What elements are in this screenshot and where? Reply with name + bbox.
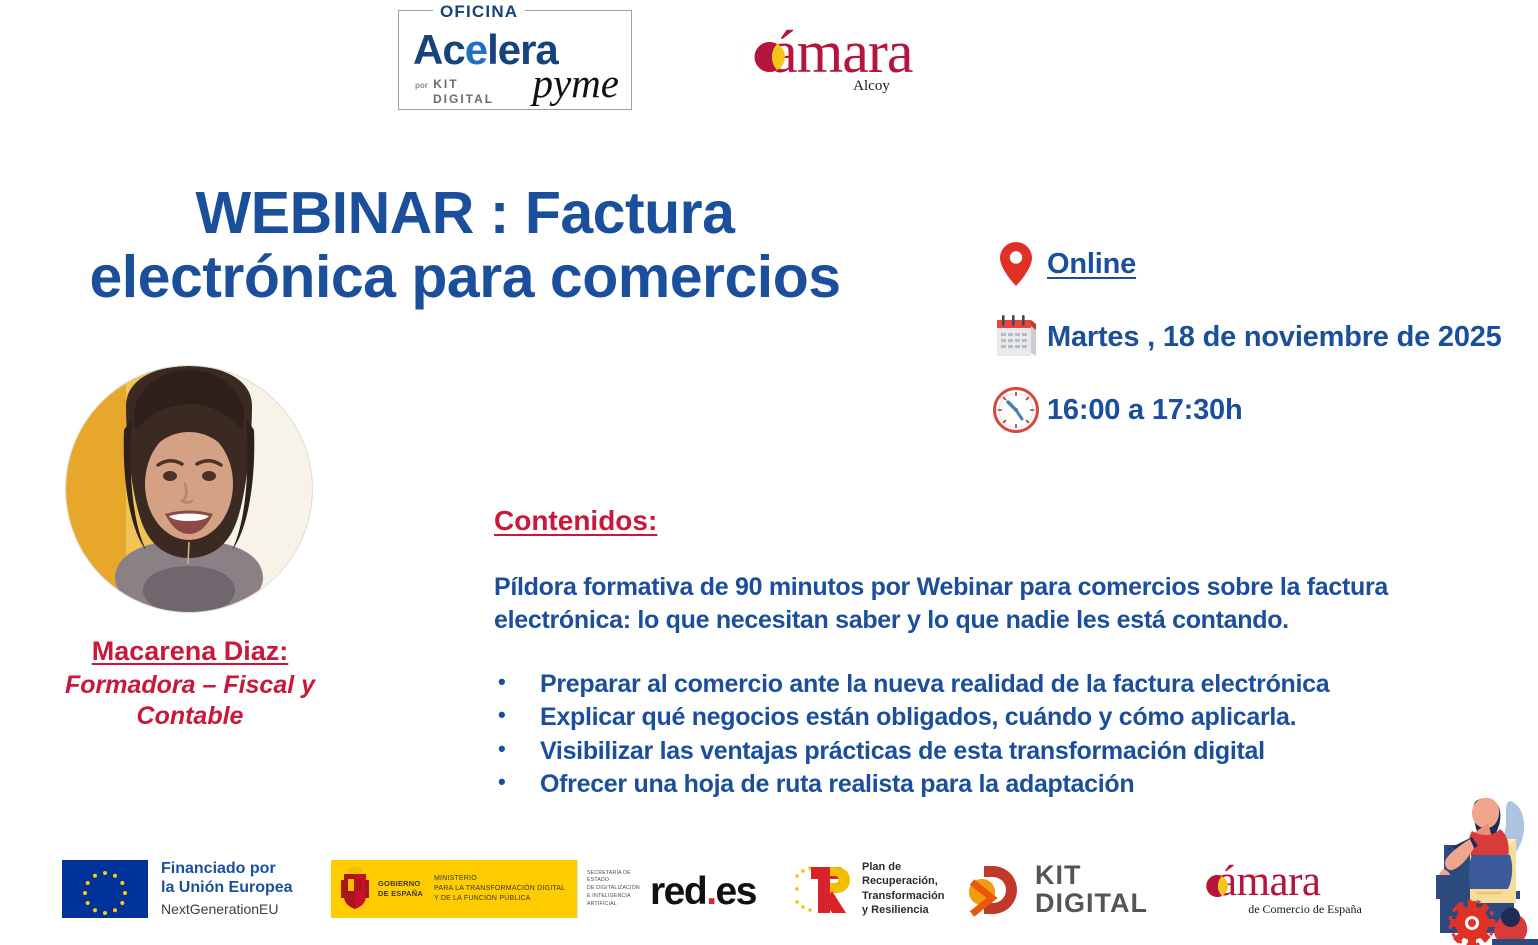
detail-location-text[interactable]: Online [1047, 248, 1136, 281]
prtr-logo-icon [791, 863, 853, 915]
eu-nextgen-label: NextGenerationEU [161, 901, 293, 917]
acelera-pyme-logo: OFICINA Acelera pyme por KIT DIGITAL [398, 10, 632, 110]
speaker-name: Macarena Diaz: [0, 636, 380, 667]
redes-dot: . [706, 870, 715, 913]
speaker-portrait [66, 366, 312, 612]
prtr-line-1: Plan de [862, 860, 945, 874]
prtr-text: Plan de Recuperación, Transformación y R… [862, 860, 945, 917]
detail-time-text: 16:00 a 17:30h [1047, 394, 1243, 427]
kit-digital-logo: KIT DIGITAL [963, 862, 1148, 918]
redes-es-text: es [716, 870, 756, 913]
content-section: Contenidos: Píldora formativa de 90 minu… [494, 505, 1494, 802]
camara-alcoy-logo: ámara Alcoy [737, 22, 972, 108]
location-pin-icon [985, 241, 1047, 287]
content-heading: Contenidos: [494, 505, 1494, 537]
eu-funding-text: Financiado por la Unión Europea NextGene… [161, 860, 293, 917]
list-item: Visibilizar las ventajas prácticas de es… [494, 735, 1494, 769]
eu-funding-logo: Financiado por la Unión Europea NextGene… [62, 860, 293, 918]
list-item: Ofrecer una hoja de ruta realista para l… [494, 768, 1494, 802]
eu-flag-icon [62, 860, 148, 918]
clock-icon [985, 386, 1047, 434]
acelera-prefix: Ac [413, 26, 465, 73]
camara-c-icon [737, 26, 799, 88]
redes-logo: red.es [650, 870, 756, 914]
detail-row-date: Martes , 18 de noviembre de 2025 [985, 311, 1538, 363]
secretaria-line-3: E INTELIGENCIA ARTIFICIAL [587, 893, 649, 909]
kit-line-1: KIT [1035, 862, 1148, 890]
prtr-line-2: Recuperación, [862, 874, 945, 888]
speaker-role: Formadora – Fiscal y Contable [0, 670, 380, 731]
secretaria-white-block: SECRETARÍA DE ESTADO DE DIGITALIZACIÓN E… [577, 860, 649, 918]
spain-coat-of-arms-icon [338, 866, 372, 912]
detail-date-text: Martes , 18 de noviembre de 2025 [1047, 321, 1502, 354]
gobierno-label: GOBIERNO DE ESPAÑA [378, 879, 423, 899]
detail-row-time: 16:00 a 17:30h [985, 384, 1538, 436]
page-title: WEBINAR : Factura electrónica para comer… [0, 182, 930, 309]
ministerio-line-3: Y DE LA FUNCIÓN PÚBLICA [434, 894, 565, 904]
speaker-role-line-1: Formadora – Fiscal y [65, 671, 315, 699]
camara-comercio-logo: ámara de Comercio de España [1192, 860, 1392, 917]
content-intro: Píldora formativa de 90 minutos por Webi… [494, 571, 1494, 638]
person-with-laptop-document-gears-illustration [1414, 783, 1538, 945]
gobierno-ministerio-logo: GOBIERNO DE ESPAÑA MINISTERIO PARA LA TR… [331, 860, 649, 918]
poster-root: OFICINA Acelera pyme por KIT DIGITAL áma… [0, 0, 1538, 945]
calendar-icon [985, 313, 1047, 361]
camara-c-icon [1192, 863, 1238, 909]
kit-digital-text: KIT DIGITAL [1035, 862, 1148, 917]
acelera-digital-label: DIGITAL [433, 92, 494, 107]
detail-row-location: Online [985, 238, 1538, 290]
content-intro-line-1: Píldora formativa de 90 minutos por Webi… [494, 573, 1388, 601]
secretaria-line-1: SECRETARÍA DE ESTADO [587, 870, 649, 886]
ministerio-line-1: MINISTERIO [434, 874, 565, 884]
redes-red-text: red [650, 870, 706, 913]
secretaria-line-2: DE DIGITALIZACIÓN [587, 885, 649, 893]
ministerio-line-2: PARA LA TRANSFORMACIÓN DIGITAL [434, 884, 565, 894]
title-line-1: WEBINAR : Factura [196, 180, 735, 246]
avatar [66, 366, 312, 612]
ministerio-label: MINISTERIO PARA LA TRANSFORMACIÓN DIGITA… [434, 874, 565, 904]
eu-line-2: la Unión Europea [161, 879, 293, 898]
prtr-line-3: Transformación [862, 889, 945, 903]
acelera-por-label: por [415, 81, 428, 90]
eu-line-1: Financiado por [161, 860, 293, 879]
content-intro-line-2: electrónica: lo que necesitan saber y lo… [494, 606, 1289, 634]
kit-digital-icon [963, 862, 1025, 918]
gobierno-line-1: GOBIERNO [378, 879, 423, 889]
list-item: Preparar al comercio ante la nueva reali… [494, 668, 1494, 702]
kit-line-2: DIGITAL [1035, 890, 1148, 918]
title-line-2: electrónica para comercios [89, 244, 840, 310]
speaker-role-line-2: Contable [137, 702, 244, 730]
prtr-logo: Plan de Recuperación, Transformación y R… [791, 860, 945, 917]
acelera-kit-label: KIT [433, 77, 458, 91]
gobierno-line-2: DE ESPAÑA [378, 889, 423, 899]
acelera-kit-digital-label: por KIT DIGITAL [415, 77, 494, 107]
content-bullet-list: Preparar al comercio ante la nueva reali… [494, 668, 1494, 802]
acelera-highlight-e: e [465, 26, 487, 73]
acelera-oficina-label: OFICINA [433, 2, 525, 22]
list-item: Explicar qué negocios están obligados, c… [494, 701, 1494, 735]
acelera-pyme-script: pyme [532, 63, 619, 104]
gobierno-yellow-block: GOBIERNO DE ESPAÑA MINISTERIO PARA LA TR… [331, 860, 577, 918]
event-details: Online [985, 238, 1538, 457]
prtr-line-4: y Resiliencia [862, 903, 945, 917]
footer-logo-bar: Financiado por la Unión Europea NextGene… [0, 852, 1538, 945]
secretaria-label: SECRETARÍA DE ESTADO DE DIGITALIZACIÓN E… [587, 870, 649, 909]
